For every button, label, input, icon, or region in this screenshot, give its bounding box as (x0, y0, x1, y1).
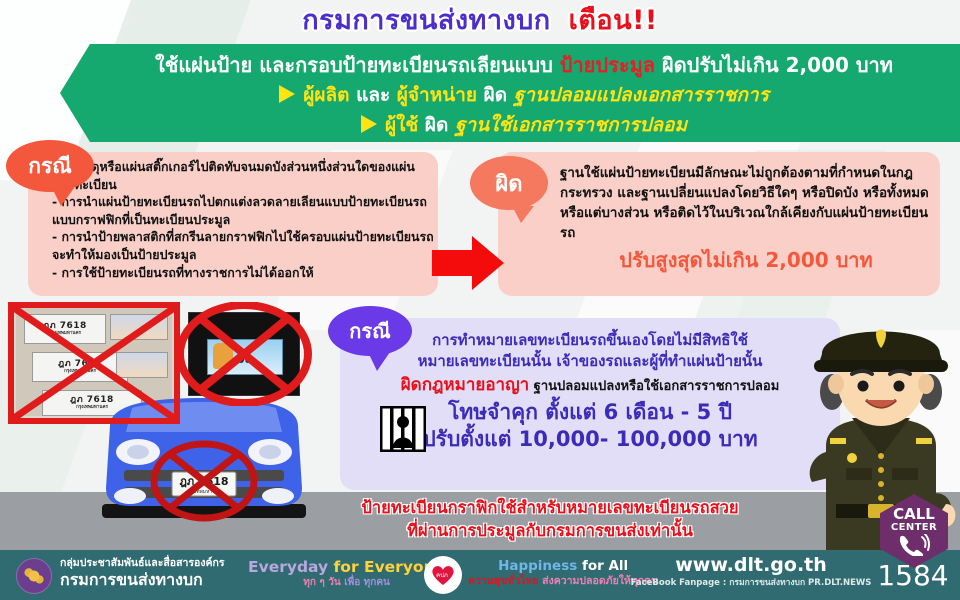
banner-user: ผู้ใช้ (385, 114, 418, 136)
list-item: - นำวัสดุหรือแผ่นสติ๊กเกอร์ไปติดทับจนมดบ… (52, 158, 434, 193)
svg-text:คปภ: คปภ (436, 572, 448, 579)
case-two-line-2: หมายเลขทะเบียนนั้น เจ้าของรถและผู้ที่ทำแ… (352, 351, 828, 372)
yellow-triangle-icon-2 (361, 115, 377, 133)
for-all-word: for All (582, 558, 628, 574)
page-title: กรมการขนส่งทางบกเตือน!! (0, 4, 960, 38)
title-department: กรมการขนส่งทางบก (302, 4, 550, 38)
case-two-crime-rest: ฐานปลอมแปลงหรือใช้เอกสารราชการปลอม (529, 379, 779, 394)
website-url[interactable]: www.dlt.go.th (626, 553, 876, 577)
footer-department-main: กรมการขนส่งทางบก (60, 570, 224, 590)
center-label: CENTER (891, 522, 937, 534)
hotline-number: 1584 (866, 560, 960, 592)
violation-fine: ปรับสูงสุดไม่เกิน 2,000 บาท (560, 246, 932, 274)
happiness-word: Happiness (498, 558, 577, 574)
banner-line-3: ผู้ใช้ ผิด ฐานใช้เอกสารราชการปลอม (88, 110, 960, 140)
case-two-line-1: การทำหมายเลขทะเบียนรถขึ้นเองโดยไม่มีสิทธ… (352, 330, 828, 351)
green-banner-content: ใช้แผ่นป้าย และกรอบป้ายทะเบียนรถเลียนแบบ… (88, 44, 960, 142)
phone-ringing-icon (897, 534, 931, 556)
list-item: - การใช้ป้ายทะเบียนรถที่ทางราชการไม่ได้อ… (52, 264, 434, 282)
badge-violation-label: ผิด (495, 166, 522, 201)
list-item: - การนำป้ายพลาสติกที่สกรีนลายกราฟฟิกไปใช… (52, 228, 434, 263)
violation-content: ฐานใช้แผ่นป้ายทะเบียนมีลักษณะไม่ถูกต้องต… (560, 164, 932, 274)
list-item: - การนำแผ่นป้ายทะเบียนรถไปตกแต่งลวดลายเล… (52, 193, 434, 228)
case-two-crime-bold: ผิดกฎหมายอาญา (401, 375, 529, 395)
everyday-th-2: เพื่อ ทุกคน (344, 577, 390, 588)
banner-line-1-part-c: ผิดปรับไม่เกิน 2,000 บาท (655, 53, 893, 77)
everyday-word: Everyday (248, 558, 328, 576)
title-warning: เตือน!! (569, 4, 658, 38)
yellow-triangle-icon (279, 85, 295, 103)
footer-department: กลุ่มประชาสัมพันธ์และสื่อสารองค์กร กรมกา… (60, 556, 224, 590)
banner-line-2: ผู้ผลิต และ ผู้จำหน่าย ผิด ฐานปลอมแปลงเอ… (88, 80, 960, 110)
banner-line-1-highlight: ป้ายประมูล (560, 53, 655, 77)
everyday-th-1: ทุก ๆ วัน (303, 577, 340, 588)
footer-contact: www.dlt.go.th FaceBook Fanpage : กรมการข… (626, 553, 876, 589)
banner-seller: ผู้จำหน่าย (397, 84, 477, 106)
banner-line-1-part-a: ใช้แผ่นป้าย และกรอบป้ายทะเบียนรถเลียนแบบ (155, 53, 560, 77)
footer-department-sub: กลุ่มประชาสัมพันธ์และสื่อสารองค์กร (60, 556, 224, 570)
closing-message: ป้ายทะเบียนกราฟิกใช้สำหรับหมายเลขทะเบียน… (250, 496, 850, 542)
jail-prisoner-icon (380, 406, 426, 452)
red-x-prohibition-icon (148, 440, 260, 522)
banner-offence-usage: ฐานใช้เอกสารราชการปลอม (455, 114, 687, 136)
badge-case-one-label: กรณี (28, 150, 71, 183)
red-x-prohibition-icon (8, 302, 180, 424)
badge-case-two-label: กรณี (349, 315, 390, 347)
badge-case-two: กรณี (328, 306, 412, 356)
happiness-heart-logo: คปภ (424, 556, 462, 594)
banner-maker: ผู้ผลิต (303, 84, 349, 106)
heart-icon: คปภ (430, 563, 456, 587)
red-x-prohibition-icon (176, 302, 312, 406)
facebook-fanpage[interactable]: FaceBook Fanpage : กรมการขนส่งทางบก PR.D… (626, 577, 876, 589)
banner-line-2-wrong: ผิด (477, 84, 514, 106)
call-label: CALL (893, 507, 935, 522)
closing-line-2: ที่ผ่านการประมูลกับกรมการขนส่งเท่านั้น (250, 519, 850, 542)
banner-offence-forgery: ฐานปลอมแปลงเอกสารราชการ (514, 84, 769, 106)
badge-violation: ผิด (470, 156, 548, 210)
violation-body: ฐานใช้แผ่นป้ายทะเบียนมีลักษณะไม่ถูกต้องต… (560, 164, 932, 244)
badge-case-one: กรณี (6, 140, 94, 192)
everyday-slogan-th: ทุก ๆ วัน เพื่อ ทุกคน (248, 576, 445, 589)
thai-government-emblem (16, 558, 52, 594)
everyday-slogan-en: Everyday for Everyone (248, 558, 445, 576)
infographic-canvas: กรมการขนส่งทางบกเตือน!! ใช้แผ่นป้าย และก… (0, 0, 960, 600)
closing-line-1: ป้ายทะเบียนกราฟิกใช้สำหรับหมายเลขทะเบียน… (250, 496, 850, 519)
everyday-slogan: Everyday for Everyone ทุก ๆ วัน เพื่อ ทุ… (248, 558, 445, 589)
happiness-th-1: ความสุขทั่วไทย (468, 575, 539, 587)
right-arrow-icon (432, 236, 504, 290)
banner-line-2-and: และ (349, 84, 396, 106)
case-two-crime: ผิดกฎหมายอาญา ฐานปลอมแปลงหรือใช้เอกสารรา… (352, 373, 828, 399)
case-one-list: - นำวัสดุหรือแผ่นสติ๊กเกอร์ไปติดทับจนมดบ… (52, 158, 434, 281)
banner-line-1: ใช้แผ่นป้าย และกรอบป้ายทะเบียนรถเลียนแบบ… (88, 50, 960, 80)
banner-line-3-wrong: ผิด (418, 114, 455, 136)
